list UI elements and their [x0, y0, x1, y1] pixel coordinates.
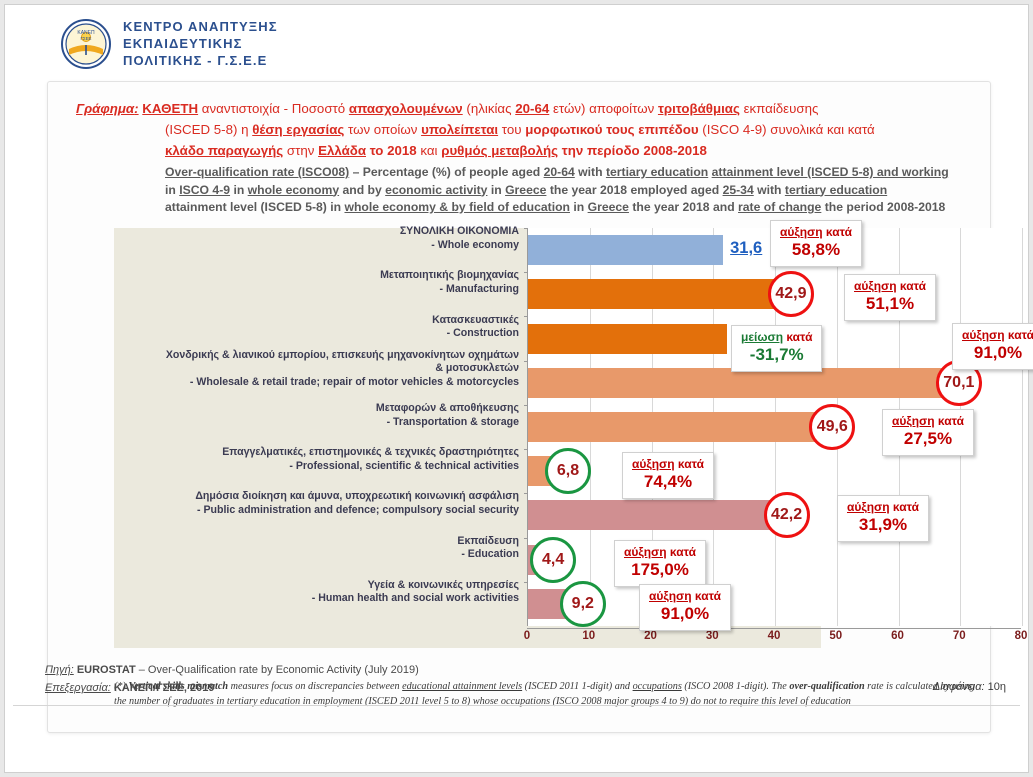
subtitle-kw-age2: 25-34: [723, 183, 754, 197]
subtitle-kw-econ-activity: economic activity: [385, 183, 487, 197]
category-label-en: - Transportation & storage: [159, 416, 519, 430]
title-kw-below: υπολείπεται: [421, 122, 498, 137]
title-text-2f: μορφωτικού τους επιπέδου: [525, 122, 698, 137]
change-value: 31,9%: [847, 515, 919, 535]
kanep-gsee-seal-icon: ΚΑΝΕΠ ΓΣΕΕ: [61, 19, 111, 69]
svg-text:ΓΣΕΕ: ΓΣΕΕ: [81, 36, 92, 41]
subtitle-text-2k: with: [757, 183, 781, 197]
title-kw-job: θέση εργασίας: [252, 122, 344, 137]
y-axis-tick-mark: [524, 228, 528, 229]
title-kw-tertiary: τριτοβάθμιας: [658, 101, 740, 116]
bar-row[interactable]: [528, 456, 1021, 486]
source-block: Πηγή: EUROSTAT – Over-Qualification rate…: [45, 661, 745, 697]
change-suffix: κατά: [890, 500, 919, 514]
header-band: ΚΑΝΕΠ ΓΣΕΕ ΚΕΝΤΡΟ ΑΝΑΠΤΥΞΗΣ ΕΚΠΑΙΔΕΥΤΙΚΗ…: [5, 5, 1028, 77]
change-callout[interactable]: αύξηση κατά91,0%: [952, 323, 1033, 370]
y-axis-tick-mark: [524, 316, 528, 317]
chart-subtitle: Over-qualification rate (ISCO08) – Perce…: [165, 164, 995, 217]
x-axis-tick: 50: [829, 630, 842, 642]
change-direction-word: αύξηση: [847, 500, 890, 514]
subtitle-kw-isco: ISCO 4-9: [179, 183, 230, 197]
change-callout[interactable]: μείωση κατά-31,7%: [731, 325, 822, 372]
bar[interactable]: [528, 279, 793, 309]
processing-value: ΚΑΝΕΠ/ΓΣΕΕ, 2019: [114, 682, 215, 694]
y-axis-tick-mark: [524, 361, 528, 362]
change-value: -31,7%: [741, 345, 812, 365]
title-period: την περίοδο 2008-2018: [562, 143, 707, 158]
subtitle-text-2a: in: [165, 183, 176, 197]
change-direction-word: αύξηση: [962, 328, 1005, 342]
title-text-1f: ετών) αποφοίτων: [553, 101, 654, 116]
y-axis-tick-mark: [524, 272, 528, 273]
change-direction-word: αύξηση: [780, 225, 823, 239]
change-value: 27,5%: [892, 429, 964, 449]
category-label: Μεταφορών & αποθήκευσης- Transportation …: [159, 402, 519, 429]
change-direction-word: αύξηση: [632, 457, 675, 471]
bar-value-badge: 42,2: [764, 492, 810, 538]
bar-value-badge: 42,9: [768, 271, 814, 317]
change-value: 74,4%: [632, 472, 704, 492]
title-text-1d: (ηλικίας: [466, 101, 511, 116]
x-axis-tick: 0: [524, 630, 530, 642]
y-axis-tick-mark: [524, 493, 528, 494]
category-label: Κατασκευαστικές- Construction: [159, 314, 519, 341]
category-label: Εκπαίδευση- Education: [159, 535, 519, 562]
title-kw-rate: ρυθμός μεταβολής: [441, 143, 558, 158]
subtitle-text-1d: with: [578, 165, 602, 179]
subtitle-text-3a: attainment level (ISCED 5-8) in: [165, 200, 341, 214]
y-axis-tick-mark: [524, 405, 528, 406]
change-direction-word: αύξηση: [624, 545, 667, 559]
category-label-en: - Human health and social work activitie…: [159, 592, 519, 606]
change-value: 58,8%: [780, 240, 852, 260]
title-text-3b: στην: [287, 143, 315, 158]
chart-title: Γράφημα: ΚΑΘΕΤΗ αναντιστοιχία - Ποσοστό …: [76, 98, 976, 161]
x-axis: 01020304050607080: [527, 628, 1027, 650]
category-label-en: - Public administration and defence; com…: [159, 504, 519, 518]
change-value: 175,0%: [624, 560, 696, 580]
title-kw-age: 20-64: [515, 101, 549, 116]
bar[interactable]: [528, 235, 723, 265]
category-label: Υγεία & κοινωνικές υπηρεσίες- Human heal…: [159, 579, 519, 606]
category-label-el: Εκπαίδευση: [159, 535, 519, 549]
change-suffix: κατά: [823, 225, 852, 239]
x-axis-tick: 30: [706, 630, 719, 642]
category-label-en: - Wholesale & retail trade; repair of mo…: [159, 376, 519, 390]
category-label: Χονδρικής & λιανικού εμπορίου, επισκευής…: [159, 349, 519, 390]
processing-line: Επεξεργασία: ΚΑΝΕΠ/ΓΣΕΕ, 2019: [45, 679, 745, 697]
x-axis-tick: 20: [644, 630, 657, 642]
x-axis-tick: 80: [1015, 630, 1028, 642]
category-label: Επαγγελματικές, επιστημονικές & τεχνικές…: [159, 446, 519, 473]
subtitle-text-2g: in: [491, 183, 502, 197]
change-suffix: κατά: [675, 457, 704, 471]
subtitle-kw-greece2: Greece: [588, 200, 629, 214]
bar-chart: 01020304050607080 ΣΥΝΟΛΙΚΗ ΟΙΚΟΝΟΜΙΑ- Wh…: [114, 228, 974, 648]
change-value: 91,0%: [649, 604, 721, 624]
category-label-el: Μεταποιητικής βιομηχανίας: [159, 269, 519, 283]
subtitle-text-3e: the year 2018 and: [632, 200, 734, 214]
change-suffix: κατά: [692, 589, 721, 603]
subtitle-kw-age: 20-64: [544, 165, 575, 179]
bar-value-badge: 49,6: [809, 404, 855, 450]
change-callout[interactable]: αύξηση κατά74,4%: [622, 452, 714, 499]
category-label-en: - Construction: [159, 327, 519, 341]
x-axis-tick: 70: [953, 630, 966, 642]
bar[interactable]: [528, 368, 961, 398]
footnote-term-2: over-qualification: [789, 681, 864, 692]
title-line-2: (ISCED 5-8) η θέση εργασίας των οποίων υ…: [76, 119, 976, 140]
source-detail: – Over-Qualification rate by Economic Ac…: [139, 664, 419, 676]
title-kw-employed: απασχολουμένων: [349, 101, 463, 116]
title-text-1b: αναντιστοιχία - Ποσοστό: [202, 101, 345, 116]
title-text-2c: των οποίων: [348, 122, 417, 137]
change-suffix: κατά: [897, 279, 926, 293]
subtitle-text-3g: the period 2008-2018: [825, 200, 946, 214]
title-separator: :: [134, 101, 138, 116]
title-text-2e: του: [502, 122, 522, 137]
y-axis-tick-mark: [524, 449, 528, 450]
slide-number-label: Διαφάνεια:: [933, 681, 985, 693]
source-name: EUROSTAT: [77, 664, 136, 676]
content-card: Γράφημα: ΚΑΘΕΤΗ αναντιστοιχία - Ποσοστό …: [47, 81, 991, 733]
change-callout[interactable]: αύξηση κατά27,5%: [882, 409, 974, 456]
category-label-en: - Whole economy: [159, 239, 519, 253]
category-label-el: ΣΥΝΟΛΙΚΗ ΟΙΚΟΝΟΜΙΑ: [159, 225, 519, 239]
change-suffix: κατά: [1005, 328, 1033, 342]
title-line-3: κλάδο παραγωγής στην Ελλάδα το 2018 και …: [76, 140, 976, 161]
bar-value-badge: 9,2: [560, 581, 606, 627]
subtitle-text-2c: in: [233, 183, 244, 197]
subtitle-kw-tertiary2: tertiary education: [785, 183, 887, 197]
bar-value-label: 31,6: [730, 239, 762, 258]
x-axis-tick: 40: [768, 630, 781, 642]
subtitle-line-3: attainment level (ISCED 5-8) in whole ec…: [165, 199, 995, 217]
change-callout[interactable]: αύξηση κατά58,8%: [770, 220, 862, 267]
change-value: 51,1%: [854, 294, 926, 314]
org-name-line-3: ΠΟΛΙΤΙΚΗΣ - Γ.Σ.Ε.Ε: [123, 52, 278, 69]
subtitle-kw-tertiary: tertiary education: [606, 165, 708, 179]
title-text-2g: (ISCO 4-9) συνολικά και κατά: [702, 122, 874, 137]
category-label-el: Επαγγελματικές, επιστημονικές & τεχνικές…: [159, 446, 519, 460]
subtitle-text-2i: the year 2018 employed aged: [550, 183, 719, 197]
organization-name: ΚΕΝΤΡΟ ΑΝΑΠΤΥΞΗΣ ΕΚΠΑΙΔΕΥΤΙΚΗΣ ΠΟΛΙΤΙΚΗΣ…: [123, 18, 278, 69]
subtitle-kw-oqrate: Over-qualification rate (ISCO08): [165, 165, 349, 179]
title-label: Γράφημα: [76, 101, 134, 116]
bar-row[interactable]: [528, 545, 1021, 575]
x-axis-line: [527, 628, 1021, 629]
category-label: Μεταποιητικής βιομηχανίας- Manufacturing: [159, 269, 519, 296]
y-axis-tick-mark: [524, 582, 528, 583]
change-suffix: κατά: [667, 545, 696, 559]
processing-label: Επεξεργασία:: [45, 682, 111, 694]
org-name-line-1: ΚΕΝΤΡΟ ΑΝΑΠΤΥΞΗΣ: [123, 18, 278, 35]
change-callout[interactable]: αύξηση κατά51,1%: [844, 274, 936, 321]
bar-value-badge: 6,8: [545, 448, 591, 494]
source-line: Πηγή: EUROSTAT – Over-Qualification rate…: [45, 661, 745, 679]
grid-line: [1022, 228, 1023, 626]
change-suffix: κατά: [935, 414, 964, 428]
slide-number: Διαφάνεια: 10η: [933, 681, 1006, 693]
x-axis-tick: 60: [891, 630, 904, 642]
category-label-en: - Professional, scientific & technical a…: [159, 460, 519, 474]
bar-value-badge: 4,4: [530, 537, 576, 583]
category-label: Δημόσια διοίκηση και άμυνα, υποχρεωτική …: [159, 490, 519, 517]
subtitle-text-3c: in: [573, 200, 584, 214]
title-text-3e: και: [420, 143, 437, 158]
subtitle-text-1f: attainment level (ISCED 5-8) and working: [712, 165, 949, 179]
subtitle-kw-field: whole economy & by field of education: [344, 200, 570, 214]
change-value: 91,0%: [962, 343, 1033, 363]
change-callout[interactable]: αύξηση κατά175,0%: [614, 540, 706, 587]
subtitle-kw-greece: Greece: [505, 183, 546, 197]
title-year: το 2018: [370, 143, 417, 158]
slide-number-value: 10η: [988, 681, 1006, 693]
title-kw-greece: Ελλάδα: [318, 143, 366, 158]
org-name-line-2: ΕΚΠΑΙΔΕΥΤΙΚΗΣ: [123, 35, 278, 52]
title-text-2a: (ISCED 5-8) η: [165, 122, 249, 137]
bar[interactable]: [528, 324, 727, 354]
change-suffix: κατά: [783, 330, 812, 344]
y-axis-tick-mark: [524, 538, 528, 539]
category-label-en: - Manufacturing: [159, 283, 519, 297]
slide-canvas: ΚΑΝΕΠ ΓΣΕΕ ΚΕΝΤΡΟ ΑΝΑΠΤΥΞΗΣ ΕΚΠΑΙΔΕΥΤΙΚΗ…: [4, 4, 1029, 773]
bottom-divider: [13, 705, 1020, 706]
change-callout[interactable]: αύξηση κατά31,9%: [837, 495, 929, 542]
category-label: ΣΥΝΟΛΙΚΗ ΟΙΚΟΝΟΜΙΑ- Whole economy: [159, 225, 519, 252]
title-text-1h: εκπαίδευσης: [744, 101, 819, 116]
subtitle-line-1: Over-qualification rate (ISCO08) – Perce…: [165, 164, 995, 182]
category-label-el: Μεταφορών & αποθήκευσης: [159, 402, 519, 416]
category-label-el: Δημόσια διοίκηση και άμυνα, υποχρεωτική …: [159, 490, 519, 504]
subtitle-kw-whole-economy: whole economy: [248, 183, 339, 197]
subtitle-text-1b: – Percentage (%) of people aged: [353, 165, 541, 179]
title-line-1: Γράφημα: ΚΑΘΕΤΗ αναντιστοιχία - Ποσοστό …: [76, 98, 976, 119]
change-direction-word: αύξηση: [649, 589, 692, 603]
category-label-el: Υγεία & κοινωνικές υπηρεσίες: [159, 579, 519, 593]
category-label-en: - Education: [159, 548, 519, 562]
x-axis-tick: 10: [582, 630, 595, 642]
category-label-el: Κατασκευαστικές: [159, 314, 519, 328]
title-kw-sector: κλάδο παραγωγής: [165, 143, 283, 158]
category-label-el: Χονδρικής & λιανικού εμπορίου, επισκευής…: [159, 349, 519, 376]
subtitle-line-2: in ISCO 4-9 in whole economy and by econ…: [165, 182, 995, 200]
subtitle-kw-change: rate of change: [738, 200, 821, 214]
bar[interactable]: [528, 412, 834, 442]
change-direction-word: μείωση: [741, 330, 783, 344]
source-label: Πηγή:: [45, 664, 74, 676]
bar[interactable]: [528, 500, 789, 530]
change-direction-word: αύξηση: [892, 414, 935, 428]
title-kw-vertical: ΚΑΘΕΤΗ: [142, 101, 198, 116]
change-direction-word: αύξηση: [854, 279, 897, 293]
change-callout[interactable]: αύξηση κατά91,0%: [639, 584, 731, 631]
subtitle-text-2e: and by: [343, 183, 382, 197]
